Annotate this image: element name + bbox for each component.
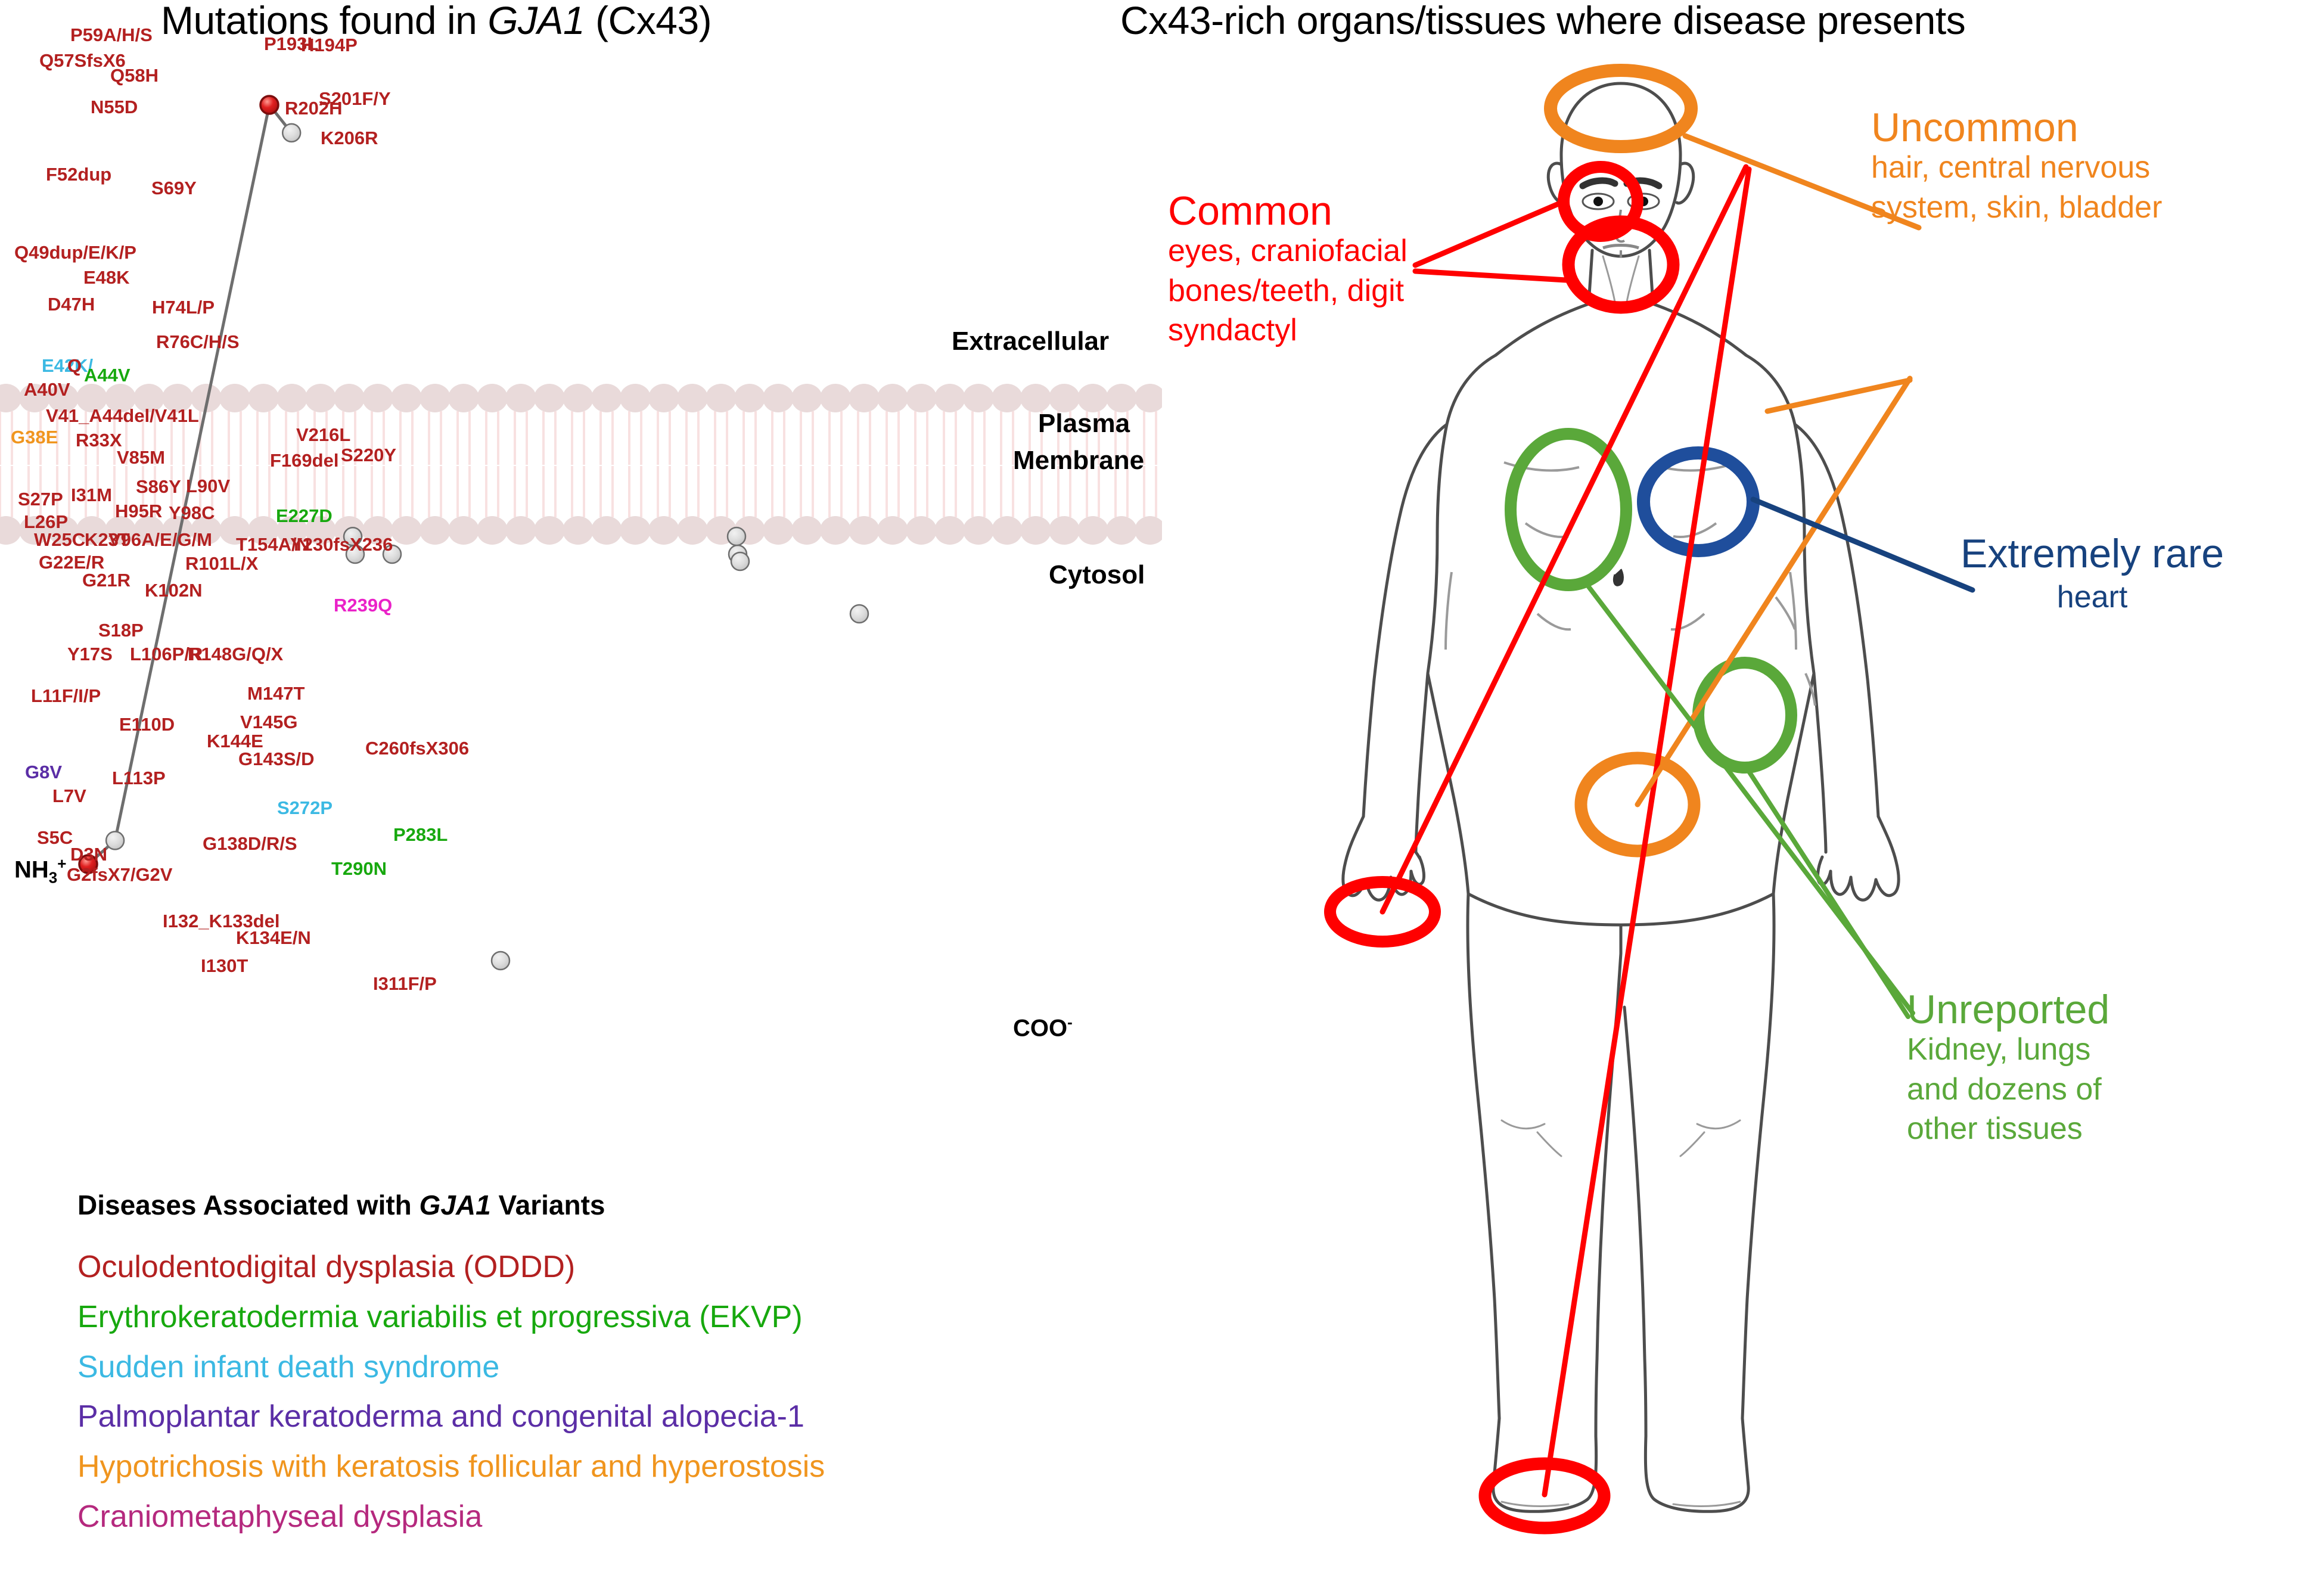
mutation-label-c260fsx306: C260fsX306 xyxy=(365,739,469,757)
mutation-label-k134e-n: K134E/N xyxy=(236,928,311,947)
mutation-label-q49dup-e-k-p: Q49dup/E/K/P xyxy=(14,243,136,262)
mutation-label-l11f-i-p: L11F/I/P xyxy=(31,687,101,705)
mutation-label-f169del: F169del xyxy=(270,451,338,470)
mutation-label-p283l: P283L xyxy=(393,825,448,844)
annotation-uncommon-line-1: hair, central nervous xyxy=(1871,148,2162,188)
legend-title-gene: GJA1 xyxy=(420,1189,491,1220)
mutation-label-i130t: I130T xyxy=(201,956,248,975)
legend-title-prefix: Diseases Associated with xyxy=(77,1189,420,1220)
mutation-label-f52dup: F52dup xyxy=(46,165,111,184)
mutation-label-t290n: T290N xyxy=(331,859,387,878)
mutation-label-k102n: K102N xyxy=(145,581,203,600)
mutation-label-i31m: I31M xyxy=(71,486,112,504)
mutation-label-y17s: Y17S xyxy=(67,645,113,663)
mutation-label-v96a-e-g-m: V96A/E/G/M xyxy=(108,530,212,549)
annotation-common-line-3: syndactyl xyxy=(1168,310,1408,350)
legend-item-2: Sudden infant death syndrome xyxy=(77,1350,825,1386)
annotation-unreported-line-2: and dozens of xyxy=(1907,1070,2109,1110)
mutation-label-w25c: W25C xyxy=(34,530,85,549)
mutation-label-s5c: S5C xyxy=(37,828,73,847)
label-extracellular: Extracellular xyxy=(952,327,1109,356)
mutation-label-l26p: L26P xyxy=(24,513,68,531)
mutation-label-g143s-d: G143S/D xyxy=(238,750,315,768)
annotation-unreported-line-1: Kidney, lungs xyxy=(1907,1030,2109,1070)
mutation-label-r239q: R239Q xyxy=(334,596,392,614)
mutation-label-h95r: H95R xyxy=(115,502,162,520)
mutation-label-v216l: V216L xyxy=(296,425,350,444)
mutation-label-i311f-p: I311F/P xyxy=(373,974,437,993)
mutation-label-r76c-h-s: R76C/H/S xyxy=(156,333,240,351)
legend-item-1: Erythrokeratodermia variabilis et progre… xyxy=(77,1300,825,1335)
mutation-label-e110d: E110D xyxy=(119,715,175,734)
mutation-label-r148g-q-x: R148G/Q/X xyxy=(188,645,283,663)
mutation-label-k206r: K206R xyxy=(321,129,378,147)
annotation-common-line-1: eyes, craniofacial xyxy=(1168,231,1408,271)
legend-title: Diseases Associated with GJA1 Variants xyxy=(77,1189,825,1221)
mutation-label-s27p: S27P xyxy=(18,490,63,508)
mutation-label-s69y: S69Y xyxy=(151,179,197,197)
annotation-unreported: Unreported Kidney, lungs and dozens of o… xyxy=(1907,989,2109,1149)
mutation-label-v145g: V145G xyxy=(240,713,298,731)
mutation-label-y98c: Y98C xyxy=(169,504,215,522)
annotation-rare-line-1: heart xyxy=(1961,577,2224,617)
mutation-label-l7v: L7V xyxy=(52,787,86,805)
mutation-label-r101l-x: R101L/X xyxy=(185,554,258,573)
mutation-label-k144e: K144E xyxy=(207,732,263,750)
legend-item-4: Hypotrichosis with keratosis follicular … xyxy=(77,1449,825,1485)
leader-common-mouth xyxy=(1415,271,1566,280)
mutation-label-a40v: A40V xyxy=(24,380,70,399)
annotation-uncommon-heading: Uncommon xyxy=(1871,107,2162,148)
mutation-label-e227d: E227D xyxy=(276,507,333,525)
annotation-common-line-2: bones/teeth, digit xyxy=(1168,271,1408,311)
mutation-label-y230fsx236: Y230fsX236 xyxy=(290,535,393,554)
legend-item-0: Oculodentodigital dysplasia (ODDD) xyxy=(77,1250,825,1285)
mutation-label-s18p: S18P xyxy=(98,621,144,639)
annotation-uncommon: Uncommon hair, central nervous system, s… xyxy=(1871,107,2162,227)
leader-lines xyxy=(1382,136,1972,1495)
mutation-label-s220y: S220Y xyxy=(341,446,396,464)
annotation-rare-heading: Extremely rare xyxy=(1961,533,2224,574)
leader-common-eye xyxy=(1415,203,1561,265)
mutation-label-g38e: G38E xyxy=(11,428,58,446)
legend-title-suffix: Variants xyxy=(491,1189,605,1220)
label-membrane: Membrane xyxy=(1013,446,1144,476)
mutation-label-v85m: V85M xyxy=(117,448,165,467)
body-outline xyxy=(1343,83,1899,1511)
annotation-uncommon-line-2: system, skin, bladder xyxy=(1871,188,2162,228)
mutation-label-s272p: S272P xyxy=(277,799,333,817)
c-terminus-label: COO- xyxy=(1013,1013,1073,1042)
mutation-label-l113p: L113P xyxy=(112,769,166,787)
mutation-label-g21r: G21R xyxy=(82,571,131,589)
circle-lung-left xyxy=(1511,434,1626,585)
mutation-label-d3n: D3N xyxy=(70,845,107,864)
n-terminus-label: NH3+ xyxy=(14,855,66,887)
label-plasma: Plasma xyxy=(1038,409,1130,439)
mutation-label-g2fsx7-g2v: G2fsX7/G2V xyxy=(67,865,172,884)
mutation-label-h194p: H194P xyxy=(301,36,358,54)
disease-legend: Diseases Associated with GJA1 Variants O… xyxy=(77,1189,825,1549)
mutation-label-n55d: N55D xyxy=(91,98,138,116)
annotation-common: Common eyes, craniofacial bones/teeth, d… xyxy=(1168,191,1408,350)
leader-uncommon-skin xyxy=(1638,378,1910,805)
mutation-label-g22e-r: G22E/R xyxy=(39,553,104,572)
mutation-label-q58h: Q58H xyxy=(110,66,159,85)
mutation-label-d47h: D47H xyxy=(48,295,95,313)
mutation-label-h74l-p: H74L/P xyxy=(152,298,215,316)
mutation-label-l90v: L90V xyxy=(186,477,230,495)
mutation-label-q: Q xyxy=(67,356,82,375)
annotation-unreported-heading: Unreported xyxy=(1907,989,2109,1030)
circle-head-hair xyxy=(1551,70,1691,147)
leader-uncommon-cns xyxy=(1767,380,1910,411)
mutation-label-m147t: M147T xyxy=(247,684,305,703)
annotation-extremely-rare: Extremely rare heart xyxy=(1961,533,2224,617)
mutation-label-g138d-r-s: G138D/R/S xyxy=(203,834,297,853)
annotation-unreported-line-3: other tissues xyxy=(1907,1109,2109,1149)
mutation-label-g8v: G8V xyxy=(25,763,62,781)
annotation-common-heading: Common xyxy=(1168,191,1408,231)
mutation-label-r33x: R33X xyxy=(76,431,122,449)
mutation-label-a44v: A44V xyxy=(84,366,131,384)
mutation-label-p59a-h-s: P59A/H/S xyxy=(70,26,153,44)
mutation-label-v41-a44del-v41l: V41_A44del/V41L xyxy=(46,406,199,425)
label-cytosol: Cytosol xyxy=(1049,560,1145,590)
legend-item-5: Craniometaphyseal dysplasia xyxy=(77,1499,825,1535)
figure-root: Mutations found in GJA1 (Cx43) Cx43-rich… xyxy=(0,0,2324,1584)
mutation-label-e48k: E48K xyxy=(83,268,130,287)
legend-item-3: Palmoplantar keratoderma and congenital … xyxy=(77,1399,825,1435)
mutation-label-s86y: S86Y xyxy=(136,477,181,496)
mutation-label-r202h: R202H xyxy=(285,99,343,117)
